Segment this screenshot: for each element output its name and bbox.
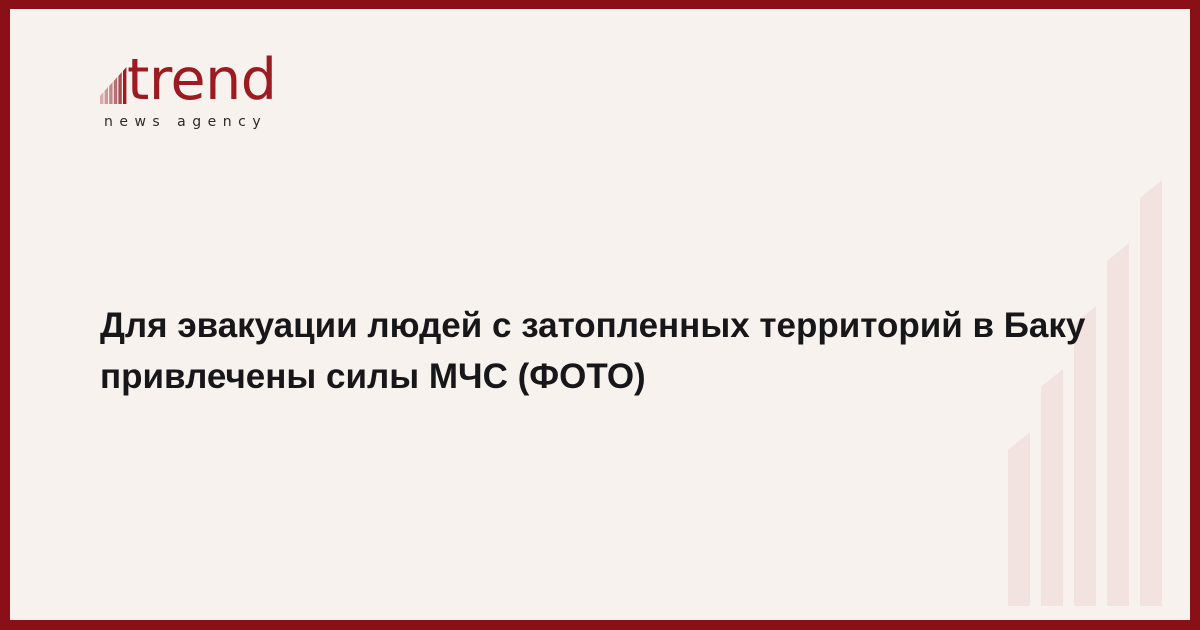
- headline: Для эвакуации людей с затопленных террит…: [100, 300, 1100, 402]
- logo-mark: trend: [100, 47, 460, 105]
- ascending-bars-icon: [100, 54, 128, 104]
- logo-tagline: news agency: [104, 114, 460, 130]
- news-share-card: trend news agency Для эвакуации людей с …: [0, 0, 1200, 630]
- logo-wordmark: trend: [127, 55, 276, 105]
- card-canvas: trend news agency Для эвакуации людей с …: [10, 9, 1190, 620]
- trend-logo[interactable]: trend news agency: [100, 47, 460, 130]
